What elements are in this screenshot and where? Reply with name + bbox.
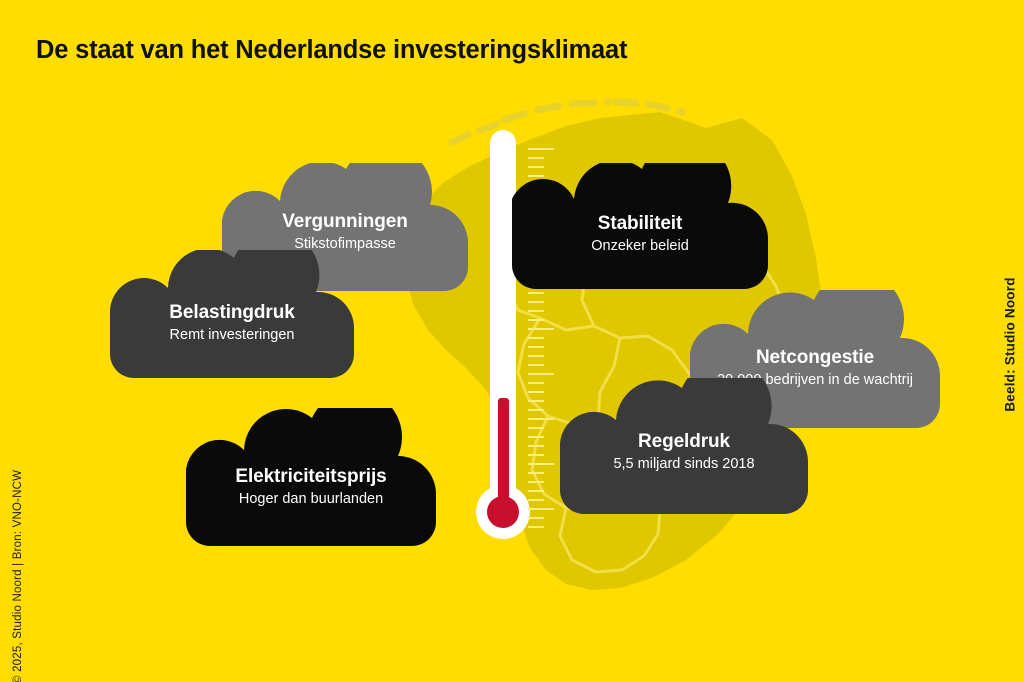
copyright-credit: © 2025, Studio Noord | Bron: VNO-NCW [12,424,24,682]
scale-tick [528,373,554,375]
cloud-elektriciteitsprijs[interactable]: Elektriciteitsprijs Hoger dan buurlanden [186,408,436,546]
cloud-belastingdruk[interactable]: Belastingdruk Remt investeringen [110,250,354,378]
scale-tick [528,157,544,159]
scale-tick [528,526,544,528]
scale-tick [528,391,544,393]
cloud-shape [560,378,808,514]
scale-tick [528,355,544,357]
scale-tick [528,319,544,321]
scale-tick [528,481,544,483]
cloud-stabiliteit[interactable]: Stabiliteit Onzeker beleid [512,163,768,289]
scale-tick [528,148,554,150]
scale-tick [528,463,554,465]
scale-tick [528,337,544,339]
scale-tick [528,292,544,294]
scale-tick [528,301,544,303]
scale-tick [528,454,544,456]
scale-tick [528,427,544,429]
scale-tick [528,445,544,447]
page-title: De staat van het Nederlandse investering… [36,36,627,65]
cloud-shape [110,250,354,378]
scale-tick [528,346,544,348]
cloud-regeldruk[interactable]: Regeldruk 5,5 miljard sinds 2018 [560,378,808,514]
scale-tick [528,328,554,330]
cloud-shape [512,163,768,289]
scale-tick [528,436,544,438]
scale-tick [528,400,544,402]
infographic-canvas: De staat van het Nederlandse investering… [0,0,1024,682]
scale-tick [528,364,544,366]
scale-tick [528,418,554,420]
scale-tick [528,382,544,384]
scale-tick [528,517,544,519]
cloud-shape [186,408,436,546]
image-credit: Beeld: Studio Noord [1003,215,1018,475]
scale-tick [528,499,544,501]
scale-tick [528,409,544,411]
scale-tick [528,472,544,474]
scale-tick [528,508,554,510]
thermometer-bulb [487,496,519,528]
scale-tick [528,490,544,492]
scale-tick [528,310,544,312]
